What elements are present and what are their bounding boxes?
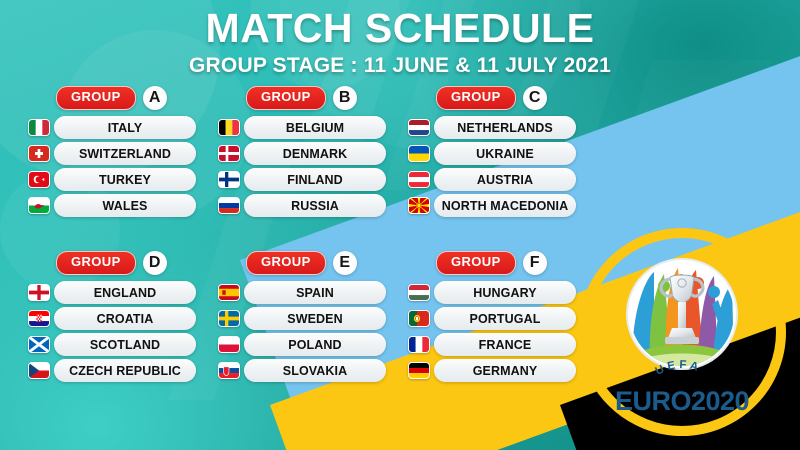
team-row[interactable]: FRANCE: [408, 333, 598, 356]
flag-wales-icon: [28, 197, 50, 214]
team-name: SWEDEN: [287, 312, 342, 326]
group-badge: GROUP: [436, 86, 516, 109]
team-name: DENMARK: [283, 147, 348, 161]
flag-spain-icon: [218, 284, 240, 301]
group-badge: GROUP: [246, 251, 326, 274]
uefa-euro-2020-logo: UEFA EURO2020: [592, 242, 772, 422]
flag-belgium-icon: [218, 119, 240, 136]
page-subtitle: GROUP STAGE : 11 JUNE & 11 JULY 2021: [0, 54, 800, 78]
team-name: BELGIUM: [286, 121, 344, 135]
flag-croatia-icon: [28, 310, 50, 327]
group-header: GROUPE: [246, 251, 408, 275]
team-pill: WALES: [54, 194, 196, 217]
team-name: GERMANY: [473, 364, 538, 378]
team-row[interactable]: HUNGARY: [408, 281, 598, 304]
team-row[interactable]: ENGLAND: [28, 281, 218, 304]
team-pill: ENGLAND: [54, 281, 196, 304]
team-name: SWITZERLAND: [79, 147, 171, 161]
flag-turkey-icon: [28, 171, 50, 188]
team-row[interactable]: NORTH MACEDONIA: [408, 194, 598, 217]
team-row[interactable]: UKRAINE: [408, 142, 598, 165]
team-name: TURKEY: [99, 173, 151, 187]
group-header: GROUPC: [436, 86, 598, 110]
group-letter-d: D: [143, 251, 167, 275]
team-row[interactable]: RUSSIA: [218, 194, 408, 217]
team-name: WALES: [103, 199, 148, 213]
team-row[interactable]: DENMARK: [218, 142, 408, 165]
flag-austria-icon: [408, 171, 430, 188]
flag-germany-icon: [408, 362, 430, 379]
group-badge: GROUP: [246, 86, 326, 109]
team-name: CZECH REPUBLIC: [69, 364, 181, 378]
team-pill: CROATIA: [54, 307, 196, 330]
logo-euro2020-text: EURO2020: [615, 386, 749, 416]
team-row[interactable]: SPAIN: [218, 281, 408, 304]
team-pill: FINLAND: [244, 168, 386, 191]
logo-artwork: UEFA EURO2020: [592, 242, 772, 422]
team-pill: SLOVAKIA: [244, 359, 386, 382]
flag-ukraine-icon: [408, 145, 430, 162]
team-name: NORTH MACEDONIA: [442, 199, 569, 213]
flag-denmark-icon: [218, 145, 240, 162]
team-row[interactable]: TURKEY: [28, 168, 218, 191]
team-name: UKRAINE: [476, 147, 534, 161]
team-name: SLOVAKIA: [283, 364, 347, 378]
team-pill: BELGIUM: [244, 116, 386, 139]
group-letter-e: E: [333, 251, 357, 275]
flag-portugal-icon: [408, 310, 430, 327]
team-row[interactable]: SLOVAKIA: [218, 359, 408, 382]
flag-poland-icon: [218, 336, 240, 353]
group-header: GROUPB: [246, 86, 408, 110]
team-row[interactable]: SWEDEN: [218, 307, 408, 330]
team-row[interactable]: WALES: [28, 194, 218, 217]
flag-hungary-icon: [408, 284, 430, 301]
group-block-b: GROUPBBELGIUMDENMARKFINLANDRUSSIA: [218, 86, 408, 251]
team-row[interactable]: CZECH REPUBLIC: [28, 359, 218, 382]
team-name: POLAND: [288, 338, 341, 352]
flag-slovakia-icon: [218, 362, 240, 379]
group-letter-a: A: [143, 86, 167, 110]
team-name: ENGLAND: [94, 286, 157, 300]
team-pill: GERMANY: [434, 359, 576, 382]
flag-france-icon: [408, 336, 430, 353]
flag-italy-icon: [28, 119, 50, 136]
group-badge: GROUP: [56, 86, 136, 109]
team-pill: UKRAINE: [434, 142, 576, 165]
team-name: NETHERLANDS: [457, 121, 553, 135]
flag-north-macedonia-icon: [408, 197, 430, 214]
team-name: FRANCE: [479, 338, 532, 352]
flag-england-icon: [28, 284, 50, 301]
flag-scotland-icon: [28, 336, 50, 353]
group-block-f: GROUPFHUNGARYPORTUGALFRANCEGERMANY: [408, 251, 598, 416]
group-block-a: GROUPAITALYSWITZERLANDTURKEYWALES: [28, 86, 218, 251]
group-badge: GROUP: [56, 251, 136, 274]
team-row[interactable]: POLAND: [218, 333, 408, 356]
team-name: RUSSIA: [291, 199, 339, 213]
team-pill: FRANCE: [434, 333, 576, 356]
team-row[interactable]: PORTUGAL: [408, 307, 598, 330]
team-pill: AUSTRIA: [434, 168, 576, 191]
group-header: GROUPA: [56, 86, 218, 110]
team-row[interactable]: SCOTLAND: [28, 333, 218, 356]
group-header: GROUPD: [56, 251, 218, 275]
flag-netherlands-icon: [408, 119, 430, 136]
team-pill: PORTUGAL: [434, 307, 576, 330]
team-pill: TURKEY: [54, 168, 196, 191]
team-pill: SWEDEN: [244, 307, 386, 330]
team-pill: SPAIN: [244, 281, 386, 304]
team-row[interactable]: FINLAND: [218, 168, 408, 191]
team-name: SCOTLAND: [90, 338, 160, 352]
team-row[interactable]: CROATIA: [28, 307, 218, 330]
team-row[interactable]: AUSTRIA: [408, 168, 598, 191]
team-row[interactable]: NETHERLANDS: [408, 116, 598, 139]
team-row[interactable]: BELGIUM: [218, 116, 408, 139]
team-name: AUSTRIA: [477, 173, 533, 187]
flag-russia-icon: [218, 197, 240, 214]
header: MATCH SCHEDULE GROUP STAGE : 11 JUNE & 1…: [0, 6, 800, 78]
group-letter-f: F: [523, 251, 547, 275]
team-pill: RUSSIA: [244, 194, 386, 217]
team-name: SPAIN: [296, 286, 334, 300]
group-letter-c: C: [523, 86, 547, 110]
team-row[interactable]: ITALY: [28, 116, 218, 139]
group-block-d: GROUPDENGLANDCROATIASCOTLANDCZECH REPUBL…: [28, 251, 218, 416]
team-pill: NETHERLANDS: [434, 116, 576, 139]
team-pill: DENMARK: [244, 142, 386, 165]
flag-finland-icon: [218, 171, 240, 188]
page-title: MATCH SCHEDULE: [0, 6, 800, 50]
team-pill: ITALY: [54, 116, 196, 139]
team-row[interactable]: GERMANY: [408, 359, 598, 382]
team-pill: SCOTLAND: [54, 333, 196, 356]
flag-sweden-icon: [218, 310, 240, 327]
team-name: PORTUGAL: [470, 312, 541, 326]
flag-switzerland-icon: [28, 145, 50, 162]
flag-czech-republic-icon: [28, 362, 50, 379]
group-letter-b: B: [333, 86, 357, 110]
group-badge: GROUP: [436, 251, 516, 274]
team-pill: NORTH MACEDONIA: [434, 194, 576, 217]
team-row[interactable]: SWITZERLAND: [28, 142, 218, 165]
team-name: CROATIA: [97, 312, 154, 326]
group-block-c: GROUPCNETHERLANDSUKRAINEAUSTRIANORTH MAC…: [408, 86, 598, 251]
group-block-e: GROUPESPAINSWEDENPOLANDSLOVAKIA: [218, 251, 408, 416]
team-name: FINLAND: [287, 173, 343, 187]
team-name: ITALY: [108, 121, 143, 135]
team-pill: POLAND: [244, 333, 386, 356]
team-name: HUNGARY: [473, 286, 536, 300]
team-pill: HUNGARY: [434, 281, 576, 304]
team-pill: SWITZERLAND: [54, 142, 196, 165]
group-header: GROUPF: [436, 251, 598, 275]
team-pill: CZECH REPUBLIC: [54, 359, 196, 382]
